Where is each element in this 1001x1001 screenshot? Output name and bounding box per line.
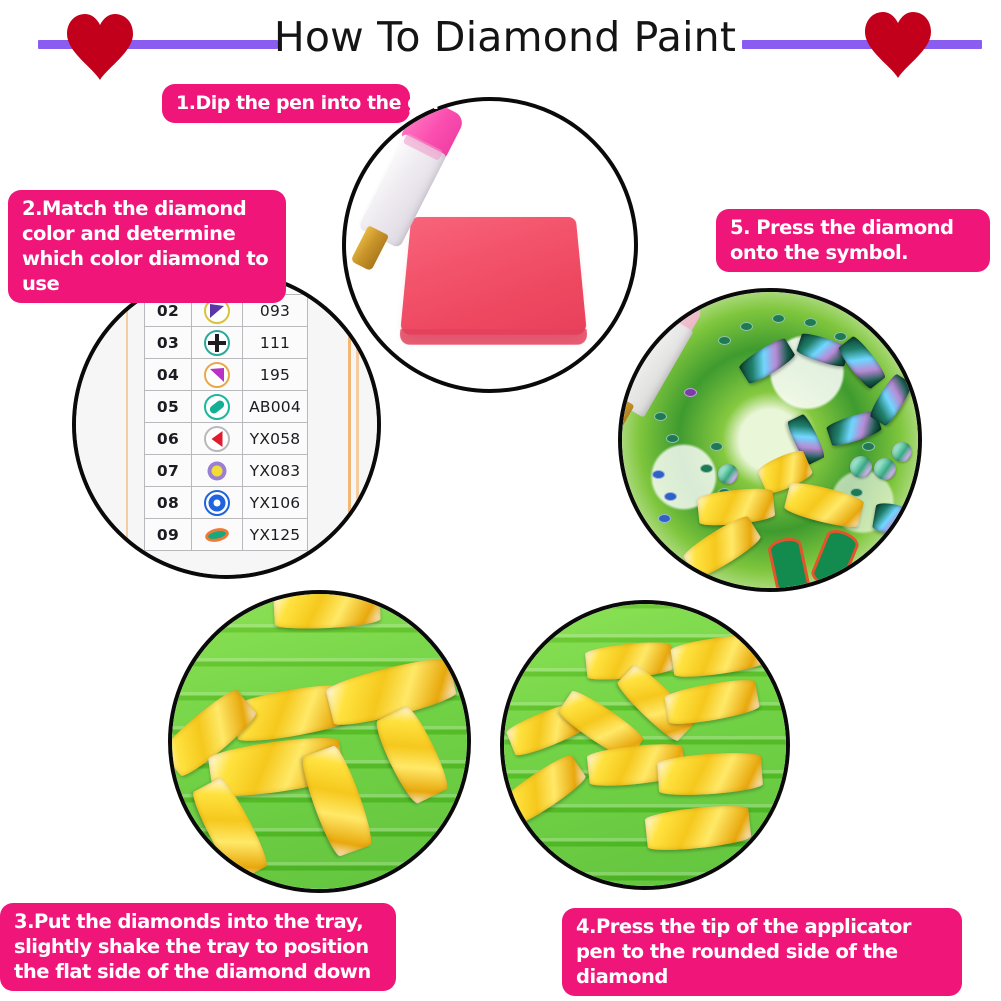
capsule-icon [204, 394, 230, 420]
table-row: 08YX106 [145, 487, 308, 519]
heart-icon [63, 12, 137, 82]
chart-symbol-cell [192, 327, 243, 359]
page-title: How To Diamond Paint [255, 12, 755, 62]
step-1-label: 1.Dip the pen into the gel [162, 84, 410, 123]
chart-symbol-cell [192, 455, 243, 487]
chart-number-cell: 03 [145, 327, 192, 359]
paper-edge [348, 274, 351, 575]
paper-edge [356, 274, 359, 575]
chart-symbol-cell [192, 359, 243, 391]
table-row: 05AB004 [145, 391, 308, 423]
table-row: 06YX058 [145, 423, 308, 455]
triangle-down-icon [204, 362, 230, 388]
chart-code-cell: 195 [243, 359, 308, 391]
chart-number-cell: 08 [145, 487, 192, 519]
infographic-canvas: How To Diamond Paint 0260209303111041950… [0, 0, 1001, 1001]
chart-symbol-cell [192, 487, 243, 519]
pen-body [504, 604, 553, 706]
paper-edge [126, 274, 128, 575]
step-2-photo: 02602093031110419505AB00406YX05807YX0830… [72, 270, 381, 579]
step-4-label: 4.Press the tip of the applicator pen to… [562, 908, 962, 996]
heart-icon [861, 10, 935, 80]
chart-code-cell: YX125 [243, 519, 308, 551]
chart-symbol-cell [192, 423, 243, 455]
chart-code-cell: YX083 [243, 455, 308, 487]
open-ring-icon [204, 490, 230, 516]
table-row: 04195 [145, 359, 308, 391]
chart-paper: 02602093031110419505AB00406YX05807YX0830… [76, 274, 377, 575]
chart-code-cell: 111 [243, 327, 308, 359]
chart-number-cell: 06 [145, 423, 192, 455]
table-row: 09YX125 [145, 519, 308, 551]
step-5-label: 5. Press the diamond onto the symbol. [716, 209, 990, 272]
pen-tip [350, 225, 389, 271]
step-3-photo [168, 590, 471, 893]
step-3-label: 3.Put the diamonds into the tray, slight… [0, 903, 396, 991]
chart-symbol-cell [192, 391, 243, 423]
step-2-label: 2.Match the diamond color and determine … [8, 190, 286, 303]
table-row: 07YX083 [145, 455, 308, 487]
color-symbol-table: 02602093031110419505AB00406YX05807YX0830… [144, 274, 308, 551]
chart-code-cell: YX058 [243, 423, 308, 455]
chart-code-cell: AB004 [243, 391, 308, 423]
leaf-icon [204, 522, 230, 548]
chevron-left-icon [204, 426, 230, 452]
plus-cross-icon [204, 330, 230, 356]
chart-number-cell: 04 [145, 359, 192, 391]
step-5-photo [618, 288, 922, 592]
chart-number-cell: 09 [145, 519, 192, 551]
chart-number-cell: 05 [145, 391, 192, 423]
chart-code-cell: YX106 [243, 487, 308, 519]
chart-symbol-cell [192, 519, 243, 551]
chart-number-cell: 07 [145, 455, 192, 487]
table-row: 03111 [145, 327, 308, 359]
step-4-photo [500, 600, 790, 890]
step-1-photo [342, 97, 638, 393]
dot-in-ring-icon [204, 458, 230, 484]
